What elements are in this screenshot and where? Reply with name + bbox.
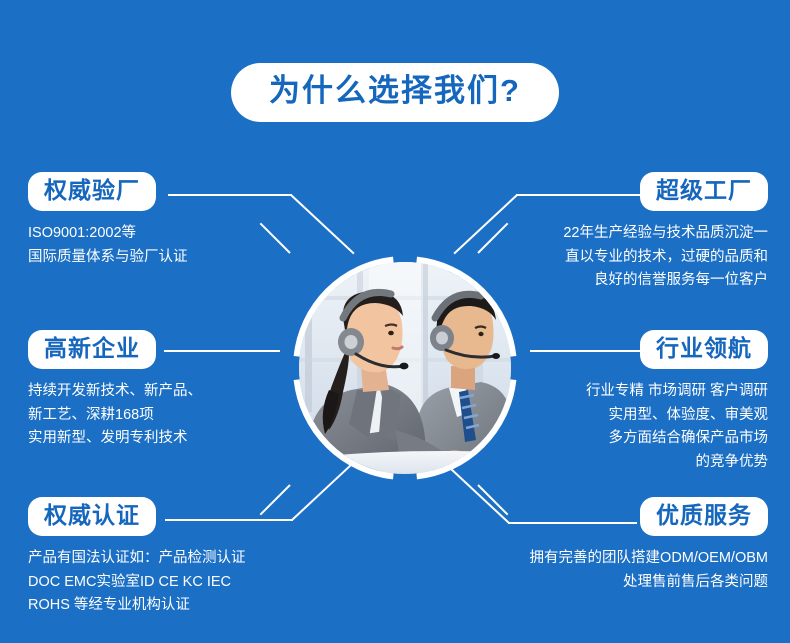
feature-desc-quality-service: 拥有完善的团队搭建ODM/OEM/OBM 处理售前售后各类问题 [418,547,768,594]
feature-quality-service[interactable]: 优质服务 拥有完善的团队搭建ODM/OEM/OBM 处理售前售后各类问题 [418,497,768,594]
spoke-bottom-left [260,484,291,515]
feature-authority-factory-audit[interactable]: 权威验厂 ISO9001:2002等 国际质量体系与验厂认证 [28,172,188,269]
feature-desc-authority-factory-audit: ISO9001:2002等 国际质量体系与验厂认证 [28,222,188,269]
feature-label-quality-service[interactable]: 优质服务 [640,497,768,536]
feature-label-authority-certification[interactable]: 权威认证 [28,497,156,536]
feature-label-industry-leading[interactable]: 行业领航 [640,330,768,369]
feature-authority-certification[interactable]: 权威认证 产品有国法认证如：产品检测认证 DOC EMC实验室ID CE KC … [28,497,246,618]
feature-super-factory[interactable]: 超级工厂 22年生产经验与技术品质沉淀一 直以专业的技术，过硬的品质和 良好的信… [458,172,768,293]
feature-industry-leading[interactable]: 行业领航 行业专精 市场调研 客户调研 实用型、体验度、审美观 多方面结合确保产… [458,330,768,474]
feature-label-super-factory[interactable]: 超级工厂 [640,172,768,211]
feature-label-high-tech-enterprise[interactable]: 高新企业 [28,330,156,369]
feature-label-authority-factory-audit[interactable]: 权威验厂 [28,172,156,211]
spoke-top-left [260,223,291,254]
feature-high-tech-enterprise[interactable]: 高新企业 持续开发新技术、新产品、 新工艺、深耕168项 实用新型、发明专利技术 [28,330,202,451]
feature-desc-industry-leading: 行业专精 市场调研 客户调研 实用型、体验度、审美观 多方面结合确保产品市场 的… [458,380,768,474]
feature-desc-super-factory: 22年生产经验与技术品质沉淀一 直以专业的技术，过硬的品质和 良好的信誉服务每一… [458,222,768,292]
feature-desc-high-tech-enterprise: 持续开发新技术、新产品、 新工艺、深耕168项 实用新型、发明专利技术 [28,380,202,450]
feature-desc-authority-certification: 产品有国法认证如：产品检测认证 DOC EMC实验室ID CE KC IEC R… [28,547,246,617]
page-title: 为什么选择我们? [231,63,559,122]
